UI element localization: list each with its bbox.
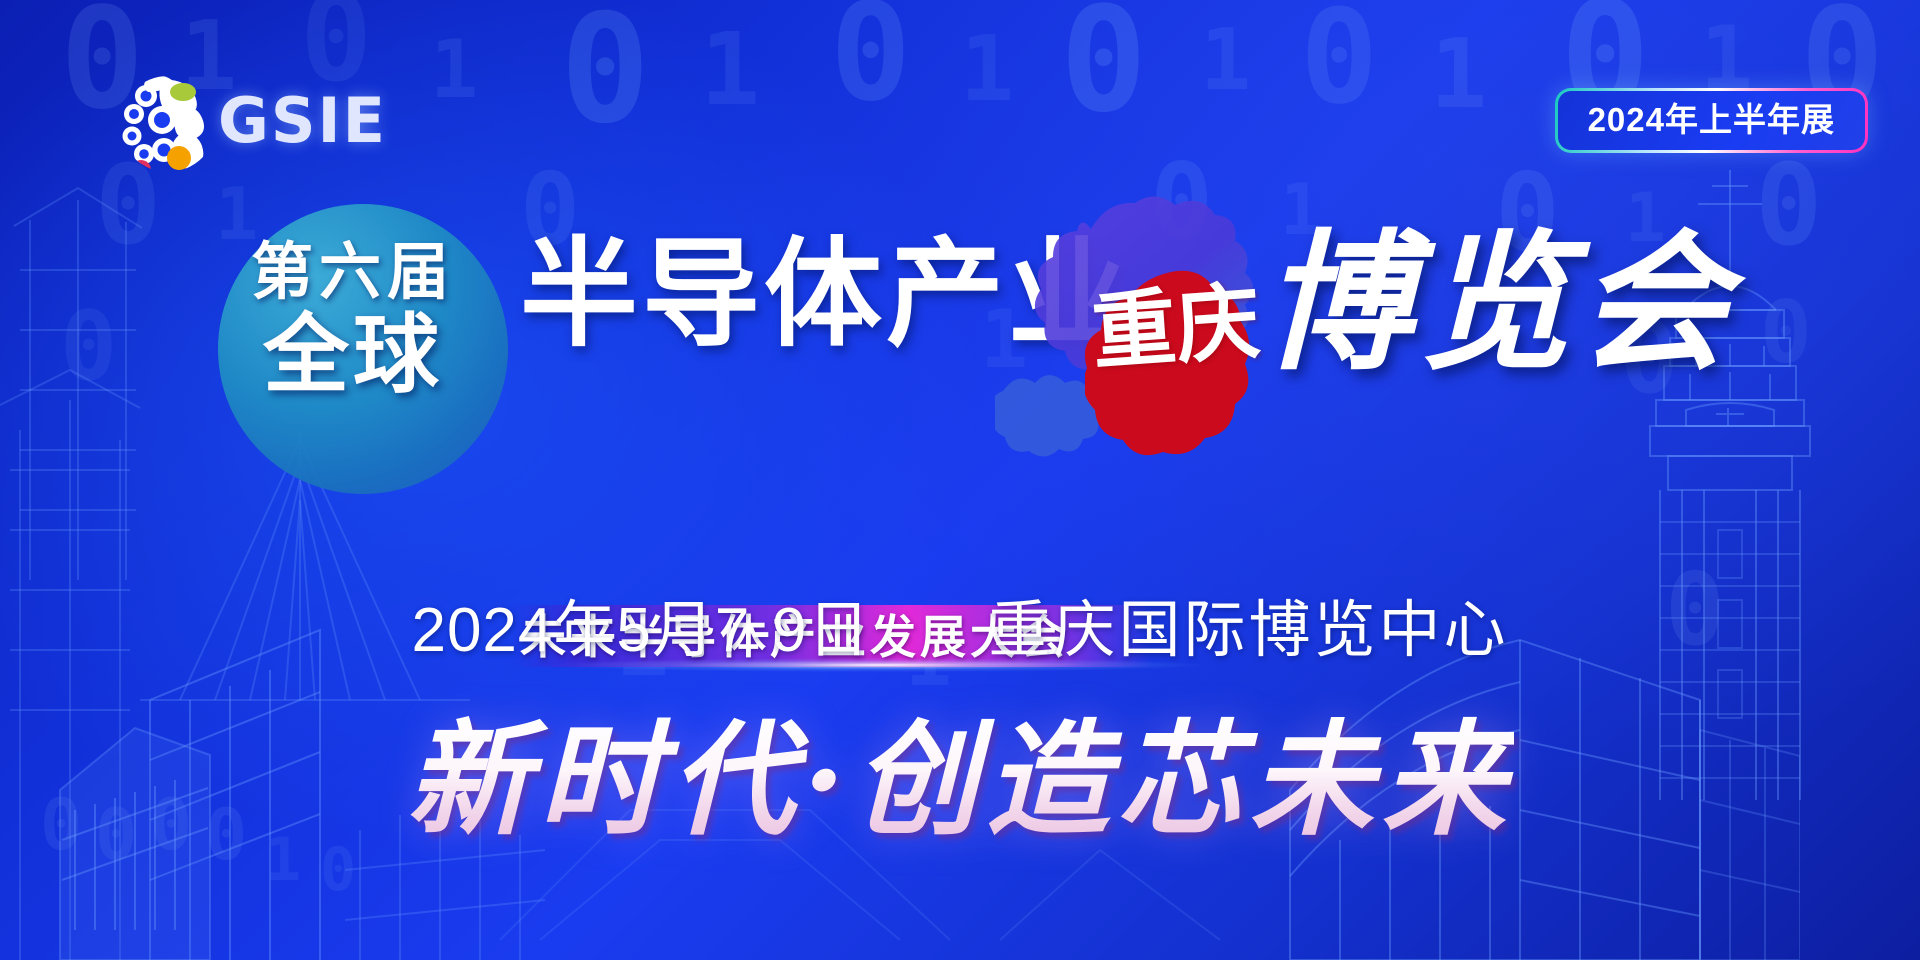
slogan-text: 新时代·创造芯未来 [406, 712, 1513, 851]
gsie-sphere-logo-icon [118, 74, 218, 174]
event-date: 2024年5月7-9日 [411, 600, 870, 662]
badge-label: 2024年上半年展 [1588, 103, 1835, 136]
binary-digit: 0 [1300, 0, 1378, 122]
event-slogan: 新时代·创造芯未来 [0, 712, 1920, 851]
gsie-logo[interactable]: GSIE [118, 74, 498, 174]
binary-digit: 1 [1200, 18, 1251, 103]
seal-text: 重庆 [1085, 282, 1266, 372]
event-banner: 010101010101010010010100100101000010 [0, 0, 1920, 960]
expo-title: 博览会 [1262, 228, 1736, 378]
binary-digit: 0 [830, 0, 911, 120]
half-year-badge[interactable]: 2024年上半年展 [1555, 88, 1868, 153]
binary-digit: 0 [560, 0, 650, 145]
binary-digit: 0 [1060, 0, 1147, 133]
event-info-line: 2024年5月7-9日 重庆国际博览中心 [0, 600, 1920, 662]
ordinal-text: 第六届 全球 [228, 242, 478, 400]
event-venue: 重庆国际博览中心 [989, 600, 1509, 662]
binary-digit: 1 [700, 20, 760, 120]
hero-title-block: 第六届 全球 半导体产业 未来半导体产业发展大会 重庆 博览会 [0, 190, 1920, 500]
gsie-wordmark: GSIE [218, 84, 387, 157]
binary-digit: 1 [960, 25, 1014, 115]
ordinal-line-1: 第六届 [228, 242, 478, 304]
ordinal-line-2: 全球 [228, 310, 478, 400]
binary-digit: 1 [1430, 28, 1487, 123]
